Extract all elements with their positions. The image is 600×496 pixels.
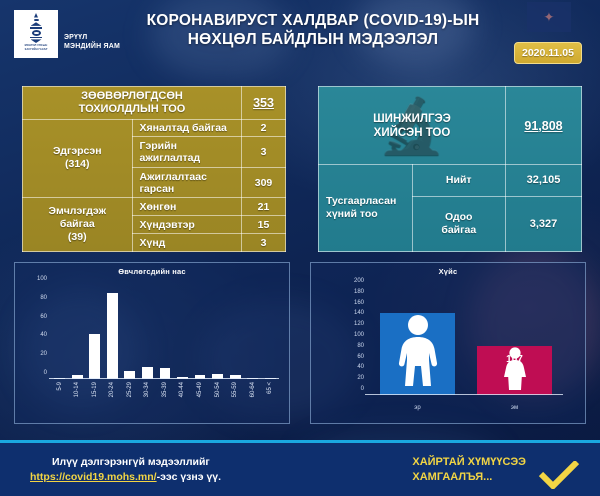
group-isolated-line-2: хүний тоо	[326, 208, 407, 221]
cases-header-label-line-1: ЗӨӨВӨРЛӨГДСӨН	[28, 90, 236, 103]
age-x-tick-cell: 15-19	[86, 379, 104, 417]
sex-y-tick: 60	[357, 354, 364, 360]
page-title-line-1: КОРОНАВИРУСТ ХАЛДВАР (COVID-19)-ЫН	[118, 11, 508, 30]
age-bar-slot	[191, 285, 209, 379]
row-value: 15	[242, 216, 286, 234]
sex-y-tick: 0	[361, 386, 364, 392]
row-label: Одоо байгаа	[412, 196, 506, 251]
header: МОНГОЛ УЛСЫН ЗАСГИЙН ГАЗАР ЭРҮҮЛ МЭНДИЙН…	[0, 0, 600, 78]
age-chart-panel: Өвчлөгсдийн нас 100806040200 5-910-1415-…	[14, 262, 290, 424]
age-x-tick-cell: 50-54	[209, 379, 227, 417]
sex-bars: 246 107	[369, 287, 563, 395]
row-label: Хөнгөн	[132, 198, 242, 216]
age-y-tick: 0	[44, 370, 47, 376]
female-pictogram-icon	[477, 346, 553, 395]
age-x-tick-cell: 35-39	[156, 379, 174, 417]
age-bars	[51, 285, 279, 379]
age-chart-plot: 100806040200	[51, 285, 279, 379]
row-label-line-2: байгаа	[418, 224, 501, 237]
cases-header-label-line-2: ТОХИОЛДЛЫН ТОО	[28, 103, 236, 116]
group-recovered-count: (314)	[28, 158, 127, 171]
age-x-tick: 50-54	[215, 382, 221, 397]
table-row: Тусгаарласан хүний тоо Нийт 32,105	[319, 165, 582, 197]
age-x-tick-cell: 60-64	[244, 379, 262, 417]
row-label-line-1: Одоо	[418, 211, 501, 224]
sex-y-tick: 20	[357, 375, 364, 381]
age-x-tick: 45-49	[197, 382, 203, 397]
state-emblem-icon: МОНГОЛ УЛСЫН ЗАСГИЙН ГАЗАР	[14, 10, 58, 58]
row-label: Хүндэвтэр	[132, 216, 242, 234]
age-x-tick: 65 <	[267, 382, 273, 394]
table-row: ЗӨӨВӨРЛӨГДСӨН ТОХИОЛДЛЫН ТОО 353	[23, 87, 286, 120]
soyombo-symbol-icon	[30, 13, 43, 43]
sex-x-axis-line	[365, 394, 563, 396]
age-bar-slot	[209, 285, 227, 379]
sex-chart-panel: Хүйс 200180160140120100806040200 246	[310, 262, 586, 424]
age-bar-slot	[51, 285, 69, 379]
row-value: 32,105	[506, 165, 582, 197]
group-isolated-line-1: Тусгаарласан	[326, 195, 407, 208]
sex-y-tick: 140	[354, 310, 364, 316]
age-bar-slot	[121, 285, 139, 379]
tests-header-label: 🔬 ШИНЖИЛГЭЭ ХИЙСЭН ТОО	[319, 87, 506, 165]
group-treatment-name-line-2: байгаа	[28, 218, 127, 231]
date-badge: 2020.11.05	[514, 42, 582, 64]
age-bar-slot	[86, 285, 104, 379]
group-isolated: Тусгаарласан хүний тоо	[319, 165, 413, 252]
emblem-label-line2: ЗАСГИЙН ГАЗАР	[25, 48, 48, 51]
footer-slogan-line-1: ХАЙРТАЙ ХҮМҮҮСЭЭ	[412, 455, 526, 470]
table-row: 🔬 ШИНЖИЛГЭЭ ХИЙСЭН ТОО 91,808	[319, 87, 582, 165]
sex-y-tick: 40	[357, 364, 364, 370]
sex-y-tick: 200	[354, 278, 364, 284]
age-y-tick: 40	[40, 332, 47, 338]
table-row: Эдгэрсэн (314) Хяналтад байгаа 2	[23, 119, 286, 137]
age-x-tick-cell: 20-24	[104, 379, 122, 417]
sex-y-tick: 80	[357, 343, 364, 349]
age-x-tick-cell: 55-59	[226, 379, 244, 417]
female-bar: 107	[477, 346, 553, 395]
row-value: 21	[242, 198, 286, 216]
ministry-line-2: МЭНДИЙН ЯАМ	[64, 42, 120, 51]
covid-site-link[interactable]: https://covid19.mohs.mn/	[30, 471, 157, 483]
sex-column-female: 107	[477, 346, 553, 395]
age-x-tick-cell: 40-44	[174, 379, 192, 417]
tests-header-label-line-1: ШИНЖИЛГЭЭ	[324, 112, 500, 126]
age-x-tick: 35-39	[162, 382, 168, 397]
age-x-tick-cell: 30-34	[139, 379, 157, 417]
group-treatment-name-line-1: Эмчлэгдэж	[28, 205, 127, 218]
row-value: 3	[242, 234, 286, 252]
cases-table: ЗӨӨВӨРЛӨГДСӨН ТОХИОЛДЛЫН ТОО 353 Эдгэрсэ…	[22, 86, 286, 252]
check-icon	[538, 461, 580, 489]
footer: Илүү дэлгэрэнгүй мэдээллийг https://covi…	[0, 440, 600, 496]
age-bar	[89, 334, 100, 379]
group-treatment-count: (39)	[28, 231, 127, 244]
age-bar-slot	[226, 285, 244, 379]
age-y-tick: 60	[40, 314, 47, 320]
row-label: Нийт	[412, 165, 506, 197]
ministry-name: ЭРҮҮЛ МЭНДИЙН ЯАМ	[64, 17, 120, 51]
age-bar-slot	[244, 285, 262, 379]
cases-total-value: 353	[242, 87, 286, 120]
age-bar-slot	[69, 285, 87, 379]
row-label: Хяналтад байгаа	[132, 119, 242, 137]
sex-x-axis-labels: эрэм	[369, 405, 563, 411]
row-label: Гэрийн ажиглалтад	[132, 137, 242, 167]
sex-x-tick: эр	[380, 405, 456, 411]
ministry-line-1: ЭРҮҮЛ	[64, 33, 120, 42]
government-logo: МОНГОЛ УЛСЫН ЗАСГИЙН ГАЗАР ЭРҮҮЛ МЭНДИЙН…	[14, 10, 120, 58]
sex-chart-title: Хүйс	[311, 267, 585, 276]
sex-y-tick: 120	[354, 321, 364, 327]
age-x-axis-labels: 5-910-1415-1920-2425-2930-3435-3940-4445…	[51, 379, 279, 417]
row-value: 3,327	[506, 196, 582, 251]
sex-column-male: 246	[380, 313, 456, 395]
emblem-label-line1: МОНГОЛ УЛСЫН	[25, 44, 48, 47]
table-row: Эмчлэгдэж байгаа (39) Хөнгөн 21	[23, 198, 286, 216]
tests-total-value: 91,808	[506, 87, 582, 165]
tests-table: 🔬 ШИНЖИЛГЭЭ ХИЙСЭН ТОО 91,808 Тусгаарлас…	[318, 86, 582, 252]
row-value: 3	[242, 137, 286, 167]
footer-info-line-2: https://covid19.mohs.mn/-ээс үзнэ үү.	[30, 470, 221, 485]
age-x-tick: 15-19	[92, 382, 98, 397]
group-under-treatment: Эмчлэгдэж байгаа (39)	[23, 198, 133, 252]
page-title-line-2: НӨХЦӨЛ БАЙДЛЫН МЭДЭЭЛЭЛ	[118, 30, 508, 49]
row-value: 2	[242, 119, 286, 137]
sex-y-tick: 160	[354, 300, 364, 306]
footer-info-line-1: Илүү дэлгэрэнгүй мэдээллийг	[30, 455, 221, 470]
sex-x-tick: эм	[477, 405, 553, 411]
age-x-tick-cell: 10-14	[69, 379, 87, 417]
tests-header-label-line-2: ХИЙСЭН ТОО	[324, 126, 500, 140]
age-x-tick-cell: 5-9	[51, 379, 69, 417]
cases-header-label: ЗӨӨВӨРЛӨГДСӨН ТОХИОЛДЛЫН ТОО	[23, 87, 242, 120]
sex-y-tick: 180	[354, 289, 364, 295]
age-bar-slot	[261, 285, 279, 379]
footer-url-tail: -ээс үзнэ үү.	[157, 471, 221, 483]
age-bar-slot	[104, 285, 122, 379]
age-y-tick: 100	[37, 276, 47, 282]
age-x-tick-cell: 25-29	[121, 379, 139, 417]
row-value: 309	[242, 167, 286, 197]
page-title: КОРОНАВИРУСТ ХАЛДВАР (COVID-19)-ЫН НӨХЦӨ…	[118, 11, 508, 49]
male-bar: 246	[380, 313, 456, 395]
age-y-tick: 80	[40, 295, 47, 301]
age-x-tick: 25-29	[127, 382, 133, 397]
age-x-tick: 20-24	[109, 382, 115, 397]
age-chart-title: Өвчлөгсдийн нас	[15, 267, 289, 276]
age-x-tick: 60-64	[250, 382, 256, 397]
age-x-tick-cell: 65 <	[261, 379, 279, 417]
age-bar	[107, 293, 118, 379]
age-bar-slot	[174, 285, 192, 379]
footer-info: Илүү дэлгэрэнгүй мэдээллийг https://covi…	[30, 455, 221, 485]
group-recovered-name: Эдгэрсэн	[28, 145, 127, 158]
row-label: Ажиглалтаас гарсан	[132, 167, 242, 197]
age-bar-slot	[139, 285, 157, 379]
sex-y-tick: 100	[354, 332, 364, 338]
age-x-tick: 30-34	[144, 382, 150, 397]
age-y-tick: 20	[40, 351, 47, 357]
footer-slogan-line-2: ХАМГААЛЪЯ...	[412, 470, 526, 485]
age-bar-slot	[156, 285, 174, 379]
group-recovered: Эдгэрсэн (314)	[23, 119, 133, 198]
row-label: Хүнд	[132, 234, 242, 252]
sex-chart-plot: 200180160140120100806040200 246	[369, 287, 563, 395]
age-x-tick-cell: 45-49	[191, 379, 209, 417]
age-x-tick: 10-14	[74, 382, 80, 397]
male-pictogram-icon	[380, 313, 456, 395]
age-x-tick: 5-9	[57, 382, 63, 391]
age-x-tick: 55-59	[232, 382, 238, 397]
covid-dashboard-poster: ✦ МОНГОЛ УЛСЫН ЗАСГИЙН ГАЗАР ЭРҮҮЛ М	[0, 0, 600, 496]
age-x-tick: 40-44	[179, 382, 185, 397]
footer-slogan: ХАЙРТАЙ ХҮМҮҮСЭЭ ХАМГААЛЪЯ...	[412, 455, 526, 485]
